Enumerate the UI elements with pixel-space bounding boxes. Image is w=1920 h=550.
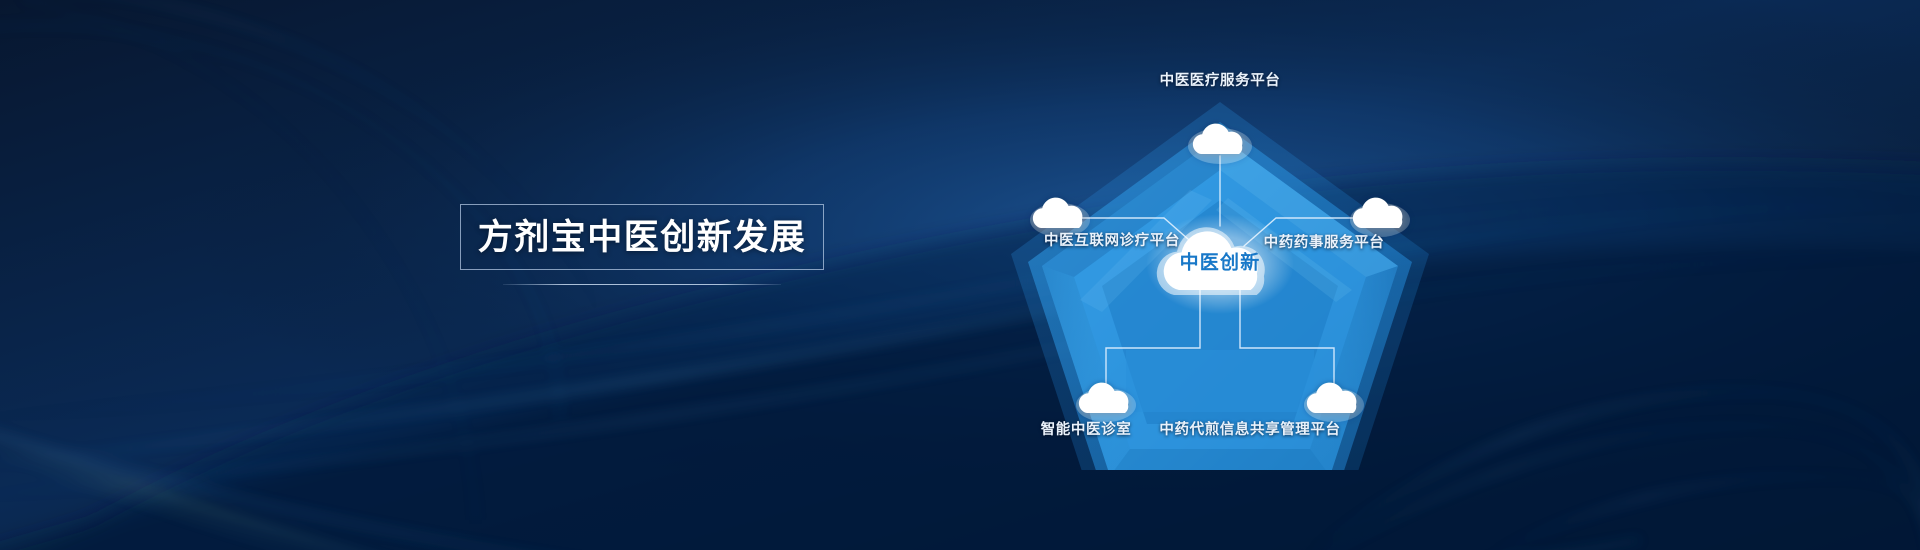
pentagon-diagram: 中医创新 中医医疗服务平台 中药药事服务平台 中药代煎信息共享管理平台 智能中医… — [960, 50, 1480, 470]
page-title: 方剂宝中医创新发展 — [478, 220, 807, 255]
banner-stage: 方剂宝中医创新发展 — [0, 0, 1920, 550]
title-underline — [503, 284, 781, 285]
page-title-frame: 方剂宝中医创新发展 — [460, 204, 824, 270]
node-label-top: 中医医疗服务平台 — [1160, 74, 1281, 89]
node-label-right: 中药药事服务平台 — [1264, 236, 1385, 251]
title-block: 方剂宝中医创新发展 — [460, 204, 824, 285]
node-label-bottom-right: 中药代煎信息共享管理平台 — [1159, 423, 1340, 438]
node-label-left: 中医互联网诊疗平台 — [1044, 234, 1180, 249]
center-node-label: 中医创新 — [1180, 254, 1261, 273]
node-label-bottom-left: 智能中医诊室 — [1041, 423, 1132, 438]
